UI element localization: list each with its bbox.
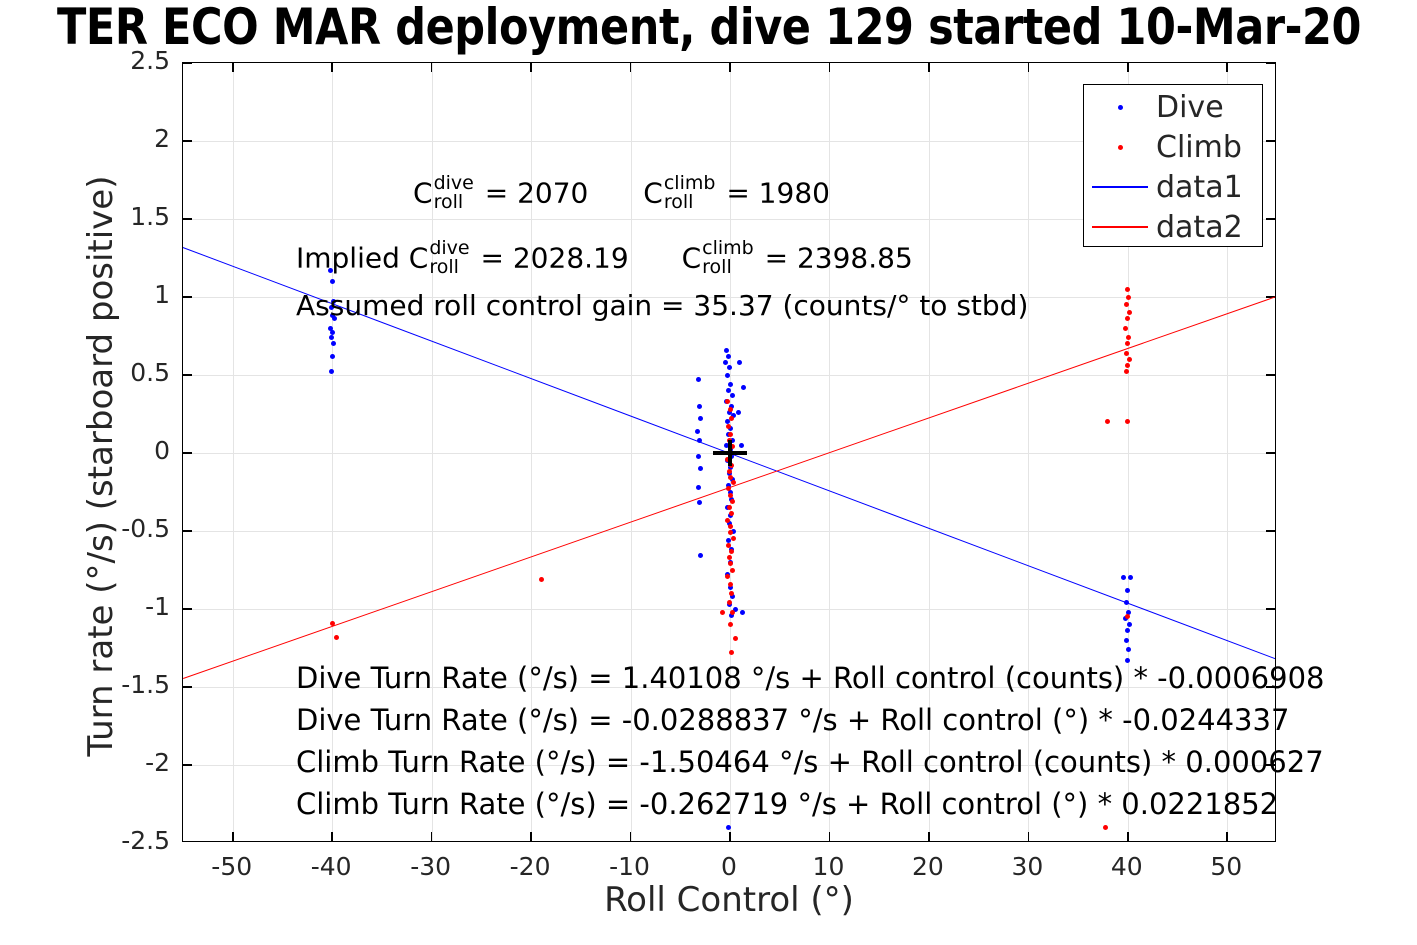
y-axis-tick (183, 374, 192, 376)
data-point-climb (1124, 351, 1129, 356)
data-point-dive (697, 404, 702, 409)
data-point-climb (731, 536, 736, 541)
data-point-dive (723, 360, 728, 365)
data-point-climb (730, 499, 735, 504)
y-axis-tick (1266, 218, 1275, 220)
data-point-climb (728, 530, 733, 535)
y-axis-tick (1266, 452, 1275, 454)
data-point-climb (726, 543, 731, 548)
data-point-dive (739, 443, 744, 448)
implied-climb-value: = 2398.85 (756, 241, 913, 274)
legend-item-data1[interactable]: data1 (1084, 167, 1262, 207)
data-point-climb (1126, 295, 1131, 300)
data-point-dive (737, 360, 742, 365)
x-axis-tick (630, 63, 632, 72)
croll-climb-subscript: roll (664, 193, 716, 212)
croll-climb-value: = 1980 (717, 176, 830, 209)
y-axis-tick (183, 686, 192, 688)
data-point-dive (331, 341, 336, 346)
legend-label-data1: data1 (1156, 170, 1243, 205)
y-axis-tick (183, 764, 192, 766)
x-axis-tick (431, 832, 433, 841)
x-axis-tick (232, 63, 234, 72)
data-point-dive (697, 438, 702, 443)
data-point-dive (741, 385, 746, 390)
equation-dive-counts: Dive Turn Rate (°/s) = 1.40108 °/s + Rol… (296, 664, 1324, 693)
data-point-climb (720, 610, 725, 615)
page-title: TER ECO MAR deployment, dive 129 started… (0, 0, 1417, 58)
data-point-climb (1125, 614, 1130, 619)
x-axis-tick (729, 63, 731, 72)
croll-dive-value: = 2070 (476, 176, 589, 209)
implied-dive-subscript: roll (429, 258, 469, 277)
data-point-climb (728, 582, 733, 587)
page-title-text: TER ECO MAR deployment, dive 129 started… (56, 0, 1360, 56)
legend[interactable]: Dive Climb data1 data2 (1083, 84, 1263, 247)
data-point-climb (1125, 363, 1130, 368)
data-point-dive (1121, 575, 1126, 580)
croll-climb-script: climbroll (664, 174, 716, 213)
data-point-climb (725, 399, 730, 404)
legend-label-climb: Climb (1156, 130, 1242, 165)
equation-climb-degrees: Climb Turn Rate (°/s) = -0.262719 °/s + … (296, 790, 1278, 819)
data-point-climb (733, 636, 738, 641)
line-icon (1092, 186, 1148, 188)
data-point-climb (728, 561, 733, 566)
data-point-climb (726, 486, 731, 491)
data-point-dive (736, 410, 741, 415)
data-point-dive (1125, 628, 1130, 633)
x-axis-title: Roll Control (°) (182, 880, 1276, 920)
data-point-climb (729, 416, 734, 421)
y-axis-tick (183, 608, 192, 610)
data-point-climb (726, 424, 731, 429)
y-axis-tick (1266, 608, 1275, 610)
data-point-climb (1125, 287, 1130, 292)
data-point-dive (725, 373, 730, 378)
data-point-climb (728, 622, 733, 627)
x-axis-tick (1127, 832, 1129, 841)
y-axis-tick (183, 530, 192, 532)
data-point-climb (1127, 357, 1132, 362)
legend-key-climb (1084, 145, 1156, 150)
legend-item-data2[interactable]: data2 (1084, 207, 1262, 247)
x-axis-tick (232, 832, 234, 841)
data-point-dive (730, 393, 735, 398)
x-axis-tick (829, 832, 831, 841)
annotation-croll-nominal: Cdiveroll = 2070 Cclimbroll = 1980 (413, 175, 830, 214)
y-axis-tick (1266, 530, 1275, 532)
legend-item-climb[interactable]: Climb (1084, 127, 1262, 167)
data-point-climb (729, 650, 734, 655)
data-point-climb (727, 505, 732, 510)
x-axis-tick (928, 63, 930, 72)
y-axis-tick (183, 140, 192, 142)
y-axis-tick (183, 63, 192, 64)
data-point-dive (1127, 622, 1132, 627)
legend-label-dive: Dive (1156, 90, 1224, 125)
equation-climb-counts: Climb Turn Rate (°/s) = -1.50464 °/s + R… (296, 748, 1324, 777)
x-axis-tick (431, 63, 433, 72)
implied-climb-symbol: C (682, 241, 702, 274)
x-axis-tick (1028, 832, 1030, 841)
legend-key-data2 (1084, 226, 1156, 228)
legend-key-data1 (1084, 186, 1156, 188)
gridline-vertical (233, 63, 234, 841)
y-axis-title: Turn rate (°/s) (starboard positive) (81, 71, 121, 861)
dot-icon (1118, 105, 1123, 110)
implied-climb-script: climbroll (702, 239, 754, 278)
data-point-climb (729, 549, 734, 554)
data-point-dive (727, 365, 732, 370)
data-point-climb (330, 621, 335, 626)
data-point-dive (1125, 588, 1130, 593)
croll-climb-symbol: C (643, 176, 663, 209)
y-axis-tick (1266, 374, 1275, 376)
x-axis-tick (530, 832, 532, 841)
data-point-climb (539, 577, 544, 582)
x-axis-tick (1226, 832, 1228, 841)
data-point-dive (1126, 647, 1131, 652)
data-point-climb (725, 518, 730, 523)
x-axis-tick (630, 832, 632, 841)
data-point-dive (696, 377, 701, 382)
data-point-dive (696, 485, 701, 490)
origin-marker-vertical (728, 440, 732, 466)
dot-icon (1118, 145, 1123, 150)
equation-dive-degrees: Dive Turn Rate (°/s) = -0.0288837 °/s + … (296, 706, 1289, 735)
data-point-dive (1128, 575, 1133, 580)
data-point-dive (695, 429, 700, 434)
gridline-horizontal (183, 609, 1275, 610)
implied-climb-subscript: roll (702, 258, 754, 277)
data-point-climb (725, 574, 730, 579)
croll-dive-script: diveroll (434, 174, 474, 213)
legend-item-dive[interactable]: Dive (1084, 87, 1262, 127)
data-point-climb (729, 511, 734, 516)
y-axis-tick (183, 218, 192, 220)
data-point-climb (1125, 341, 1130, 346)
data-point-climb (1103, 825, 1108, 830)
data-point-climb (727, 600, 732, 605)
data-point-climb (727, 469, 732, 474)
implied-dive-value: = 2028.19 (472, 241, 629, 274)
implied-dive-script: diveroll (429, 239, 469, 278)
x-axis-tick (331, 832, 333, 841)
legend-key-dive (1084, 105, 1156, 110)
data-point-dive (698, 553, 703, 558)
data-point-dive (726, 354, 731, 359)
data-point-dive (726, 388, 731, 393)
x-axis-tick (1028, 63, 1030, 72)
y-axis-tick (183, 296, 192, 298)
data-point-dive (726, 825, 731, 830)
x-axis-tick (530, 63, 532, 72)
x-axis-tick (928, 832, 930, 841)
data-point-climb (728, 493, 733, 498)
data-point-dive (724, 348, 729, 353)
data-point-dive (698, 466, 703, 471)
data-point-climb (1105, 419, 1110, 424)
y-axis-tick (1266, 63, 1275, 64)
x-axis-tick (729, 832, 731, 841)
data-point-dive (696, 454, 701, 459)
legend-label-data2: data2 (1156, 210, 1243, 245)
data-point-dive (329, 335, 334, 340)
annotation-roll-gain: Assumed roll control gain = 35.37 (count… (296, 292, 1028, 320)
data-point-dive (728, 382, 733, 387)
data-point-climb (730, 568, 735, 573)
data-point-dive (698, 416, 703, 421)
data-point-climb (727, 555, 732, 560)
x-axis-tick (1226, 63, 1228, 72)
croll-dive-subscript: roll (434, 193, 474, 212)
data-point-climb (728, 407, 733, 412)
y-axis-tick (183, 452, 192, 454)
data-point-dive (330, 279, 335, 284)
line-icon (1092, 226, 1148, 228)
data-point-climb (1126, 335, 1131, 340)
implied-prefix: Implied C (296, 241, 428, 274)
data-point-dive (330, 354, 335, 359)
data-point-climb (730, 610, 735, 615)
data-point-climb (728, 432, 733, 437)
x-axis-tick-label: 50 (1166, 852, 1286, 881)
data-point-climb (1125, 419, 1130, 424)
x-axis-tick (331, 63, 333, 72)
y-axis-tick (1266, 140, 1275, 142)
croll-dive-symbol: C (413, 176, 433, 209)
x-axis-tick (829, 63, 831, 72)
data-point-climb (334, 635, 339, 640)
x-axis-tick (1127, 63, 1129, 72)
data-point-dive (740, 610, 745, 615)
data-point-dive (697, 500, 702, 505)
data-point-climb (1127, 310, 1132, 315)
data-point-climb (1125, 316, 1130, 321)
annotation-croll-implied: Implied Cdiveroll = 2028.19 Cclimbroll =… (296, 240, 913, 279)
